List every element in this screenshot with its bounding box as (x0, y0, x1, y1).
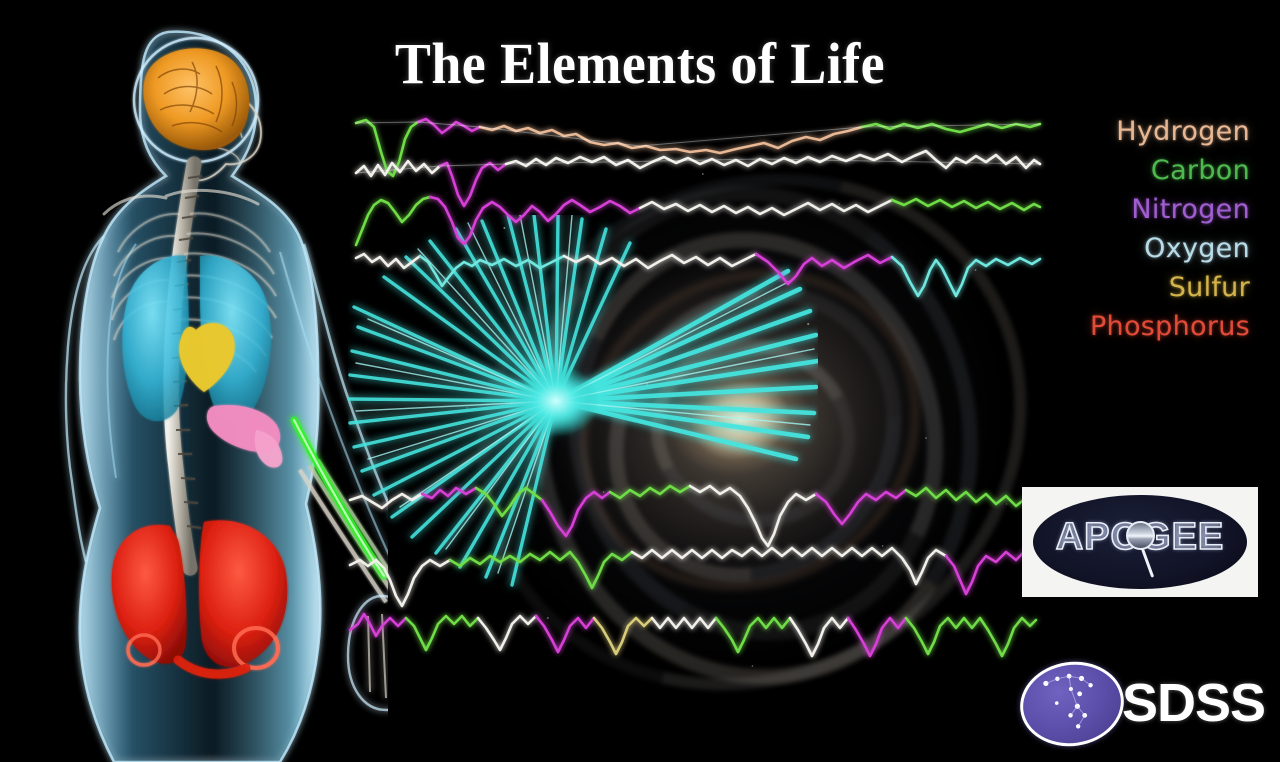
element-legend: Hydrogen Carbon Nitrogen Oxygen Sulfur P… (990, 112, 1250, 346)
body-silhouette (80, 32, 321, 762)
legend-item-phosphorus[interactable]: Phosphorus (990, 307, 1250, 346)
body-arm-right (280, 244, 388, 562)
body-clavicle (104, 190, 258, 214)
body-forearm-bones (300, 460, 388, 602)
page-title: The Elements of Life (45, 30, 1235, 97)
apogee-logo[interactable]: APOGEE (1022, 487, 1258, 597)
human-body-xray (18, 0, 388, 762)
body-ribcage (112, 213, 276, 372)
legend-item-hydrogen[interactable]: Hydrogen (990, 112, 1250, 151)
spectrum-trace (356, 119, 1040, 176)
green-fiber-arm (294, 420, 384, 576)
body-lungs (122, 255, 271, 421)
starfield (430, 120, 1050, 720)
fiber-optic-burst (348, 215, 818, 595)
poster-root: The Elements of Life Hydrogen Carbon Nit… (0, 0, 1280, 762)
spectrum-trace (356, 197, 1040, 245)
galaxy-dust-lane (520, 207, 979, 652)
galaxy-spiral-arm (626, 313, 879, 554)
body-arm-left (66, 236, 136, 562)
galaxy-spiral-arm (493, 150, 1017, 720)
constellation-dots (1018, 659, 1126, 750)
galaxy-core (412, 107, 1068, 732)
galaxy-spiral-arm (516, 183, 995, 689)
sdss-wordmark: SDSS (1122, 672, 1265, 734)
spectrum-trace (350, 486, 1034, 546)
legend-item-carbon[interactable]: Carbon (990, 151, 1250, 190)
fiber-burst-svg (348, 215, 818, 595)
spectrum-trace (356, 151, 1040, 206)
galaxy-image (430, 120, 1050, 720)
fiber-rays (348, 215, 818, 585)
spectrum-trace (356, 254, 1040, 296)
human-body-svg (18, 0, 388, 762)
spectrum-trace (350, 614, 1036, 656)
sdss-logo[interactable]: SDSS (1014, 658, 1264, 754)
galaxy-spiral-arm (548, 227, 962, 643)
body-pelvis (112, 520, 287, 674)
legend-item-nitrogen[interactable]: Nitrogen (990, 190, 1250, 229)
body-spine (171, 164, 202, 568)
legend-item-oxygen[interactable]: Oxygen (990, 229, 1250, 268)
magnifying-glass-icon (1126, 521, 1155, 550)
body-heart (179, 323, 234, 392)
legend-item-sulfur[interactable]: Sulfur (990, 268, 1250, 307)
spectrum-trace (350, 548, 1034, 606)
constellation-icon (1015, 655, 1130, 753)
body-stomach (207, 405, 282, 468)
body-hand (348, 596, 388, 710)
